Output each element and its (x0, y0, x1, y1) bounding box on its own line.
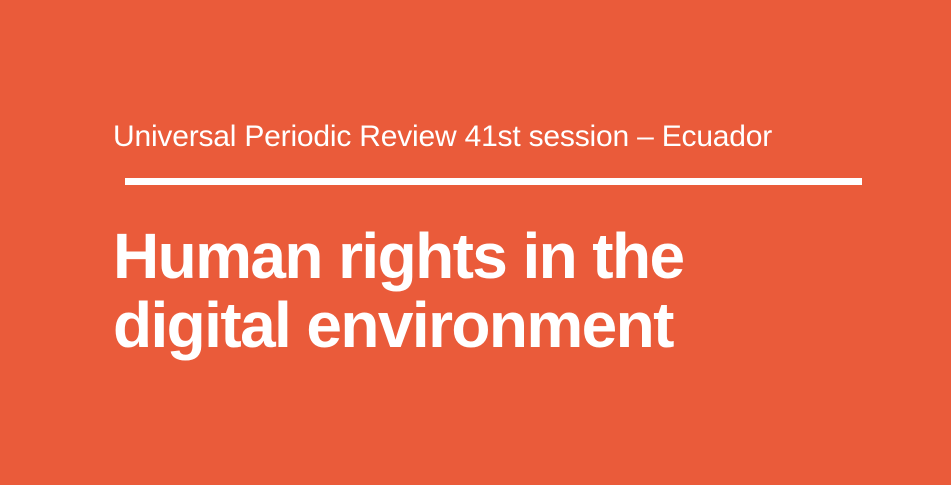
page-title-line-1: Human rights in the (113, 222, 873, 291)
page-title: Human rights in the digital environment (113, 222, 873, 360)
slide-content: Universal Periodic Review 41st session –… (113, 118, 873, 360)
page-title-line-2: digital environment (113, 291, 873, 360)
slide-eyebrow-text: Universal Periodic Review 41st session –… (113, 118, 873, 156)
title-slide: Universal Periodic Review 41st session –… (0, 0, 951, 485)
horizontal-rule-divider (125, 178, 862, 185)
